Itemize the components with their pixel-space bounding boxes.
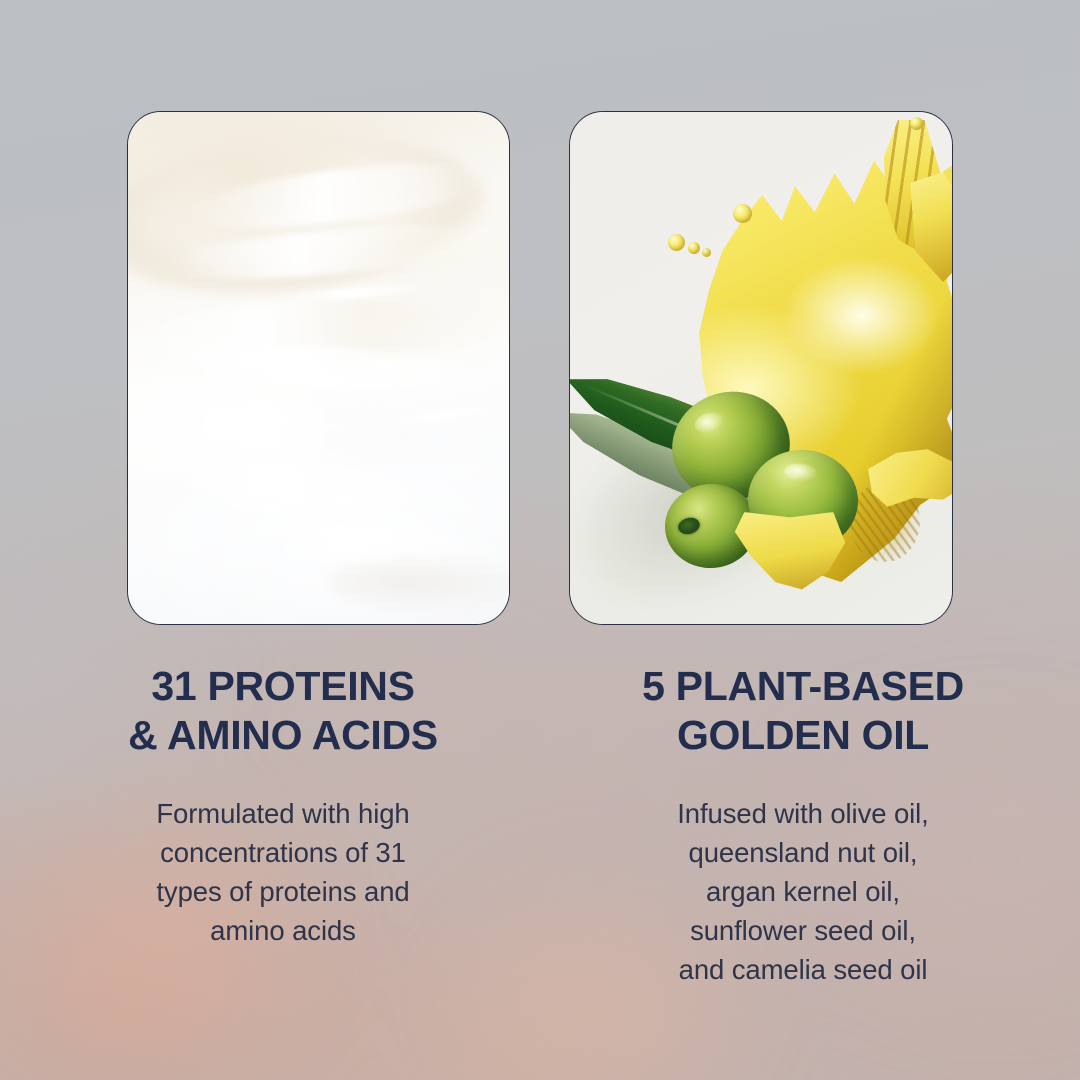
golden-oil-text-column: 5 PLANT-BASED GOLDEN OIL Infused with ol…	[540, 662, 1080, 989]
oil-droplet-5	[910, 117, 923, 130]
cream-shadow-pocket	[328, 552, 510, 612]
golden-oil-description: Infused with olive oil, queensland nut o…	[582, 794, 1024, 989]
cream-texture-card	[127, 111, 510, 625]
proteins-heading: 31 PROTEINS & AMINO ACIDS	[72, 662, 494, 760]
proteins-text-column: 31 PROTEINS & AMINO ACIDS Formulated wit…	[0, 662, 540, 989]
oil-droplet-1	[733, 204, 752, 223]
oil-droplet-2	[668, 234, 685, 251]
cream-texture-photo	[128, 112, 509, 624]
golden-oil-heading: 5 PLANT-BASED GOLDEN OIL	[582, 662, 1024, 760]
oil-droplet-3	[688, 242, 700, 254]
feature-text-row: 31 PROTEINS & AMINO ACIDS Formulated wit…	[0, 662, 1080, 989]
olive-oil-card	[569, 111, 953, 625]
oil-droplet-4	[702, 248, 711, 257]
olive-oil-splash-photo	[570, 112, 952, 624]
proteins-description: Formulated with high concentrations of 3…	[72, 794, 494, 950]
